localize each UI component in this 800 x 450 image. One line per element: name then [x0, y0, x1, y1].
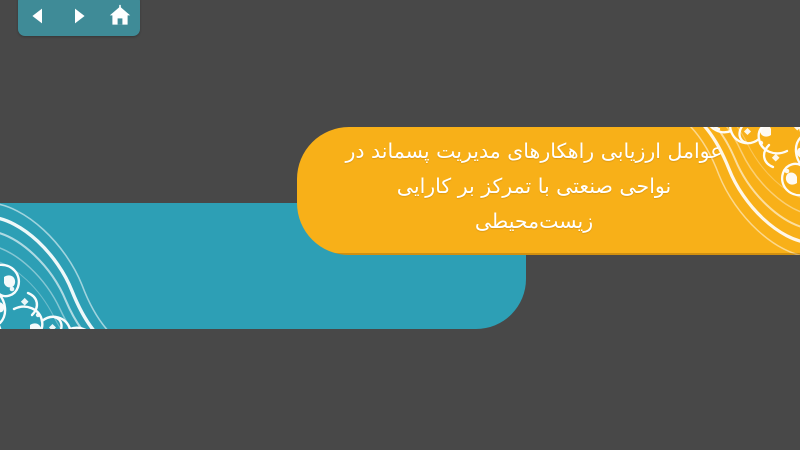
slide-title-line-2: نواحی صنعتی با تمرکز بر کارایی	[300, 169, 768, 204]
home-button[interactable]	[105, 3, 135, 29]
next-slide-button[interactable]	[64, 3, 94, 29]
slide-navigation-toolbar[interactable]	[18, 0, 140, 36]
next-slide-icon	[69, 6, 89, 26]
slide-title-line-3: زیست‌محیطی	[300, 204, 768, 239]
home-icon	[108, 4, 132, 28]
previous-slide-button[interactable]	[23, 3, 53, 29]
arabesque-corner-ornament	[0, 203, 188, 329]
slide-title-line-1: عوامل ارزیابی راهکارهای مدیریت پسماند در	[300, 128, 768, 169]
previous-slide-icon	[28, 6, 48, 26]
slide-title: عوامل ارزیابی راهکارهای مدیریت پسماند در…	[300, 128, 768, 239]
presentation-slide: عوامل ارزیابی راهکارهای مدیریت پسماند در…	[0, 0, 800, 450]
